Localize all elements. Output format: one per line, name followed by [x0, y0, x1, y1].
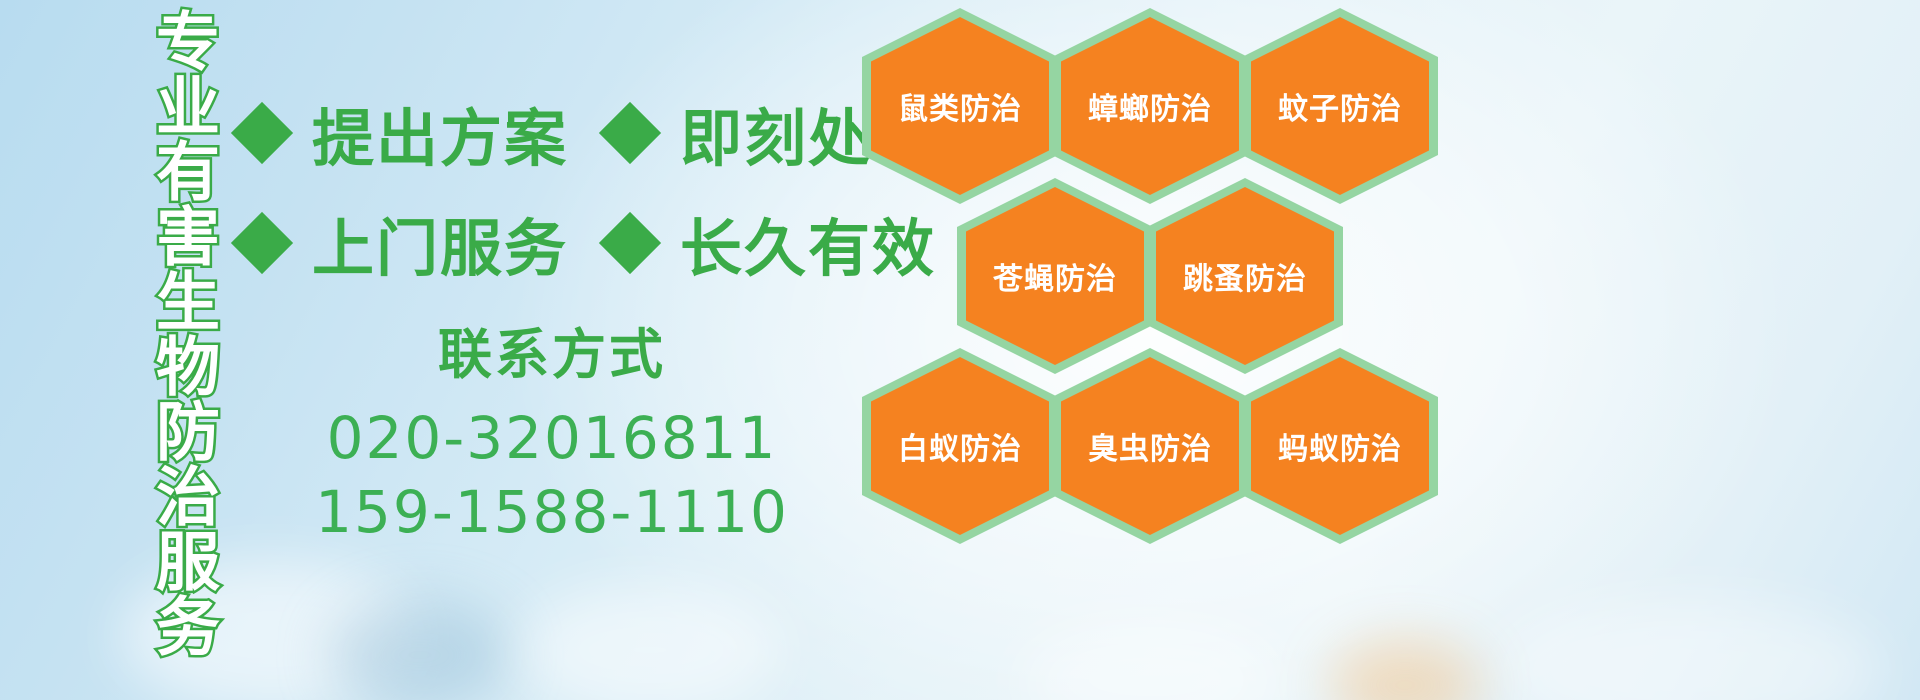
background-blob: [1330, 640, 1480, 700]
hex-cell-termite-control[interactable]: 白蚁防治: [862, 348, 1058, 544]
feature-item-onsite-service: 上门服务: [232, 198, 568, 288]
background-blob: [520, 585, 780, 700]
honeycomb-row-middle: 苍蝇防治 跳蚤防治: [957, 178, 1337, 374]
hex-cell-ant-control[interactable]: 蚂蚁防治: [1242, 348, 1438, 544]
contact-phone-landline[interactable]: 020-32016811: [232, 401, 872, 475]
contact-block: 联系方式 020-32016811 159-1588-1110: [232, 310, 872, 549]
feature-label: 提出方案: [312, 88, 568, 178]
hex-label: 白蚁防治: [898, 424, 1022, 468]
honeycomb-row-top: 鼠类防治 蟑螂防治 蚊子防治: [862, 8, 1432, 204]
background-blob: [330, 600, 510, 700]
vertical-headline: 专业有害生物防治服务: [110, 8, 214, 658]
background-blob: [1020, 620, 1280, 700]
contact-phone-mobile[interactable]: 159-1588-1110: [232, 475, 872, 549]
hex-cell-bedbug-control[interactable]: 臭虫防治: [1052, 348, 1248, 544]
hex-label: 臭虫防治: [1088, 424, 1212, 468]
feature-label: 上门服务: [312, 198, 568, 288]
background-blob: [1500, 600, 1880, 700]
hex-label: 蟑螂防治: [1088, 84, 1212, 128]
feature-row: 提出方案 即刻处理: [232, 78, 872, 188]
feature-item-proposal: 提出方案: [232, 88, 568, 178]
hex-cell-fly-control[interactable]: 苍蝇防治: [957, 178, 1153, 374]
hex-label: 鼠类防治: [898, 84, 1022, 128]
contact-title: 联系方式: [232, 310, 872, 389]
hex-cell-cockroach-control[interactable]: 蟑螂防治: [1052, 8, 1248, 204]
hex-label: 苍蝇防治: [993, 254, 1117, 298]
service-honeycomb: 鼠类防治 蟑螂防治 蚊子防治 苍蝇防治 跳蚤防治: [862, 0, 1462, 560]
honeycomb-row-bottom: 白蚁防治 臭虫防治 蚂蚁防治: [862, 348, 1432, 544]
pest-control-banner: 专业有害生物防治服务 提出方案 即刻处理 上门服务 长久有效 联系方式: [0, 0, 1920, 700]
feature-list: 提出方案 即刻处理 上门服务 长久有效: [232, 78, 872, 298]
hex-label: 跳蚤防治: [1183, 254, 1307, 298]
hex-cell-flea-control[interactable]: 跳蚤防治: [1147, 178, 1343, 374]
hex-cell-rodent-control[interactable]: 鼠类防治: [862, 8, 1058, 204]
hex-label: 蚂蚁防治: [1278, 424, 1402, 468]
hex-label: 蚊子防治: [1278, 84, 1402, 128]
hex-cell-mosquito-control[interactable]: 蚊子防治: [1242, 8, 1438, 204]
feature-row: 上门服务 长久有效: [232, 188, 872, 298]
